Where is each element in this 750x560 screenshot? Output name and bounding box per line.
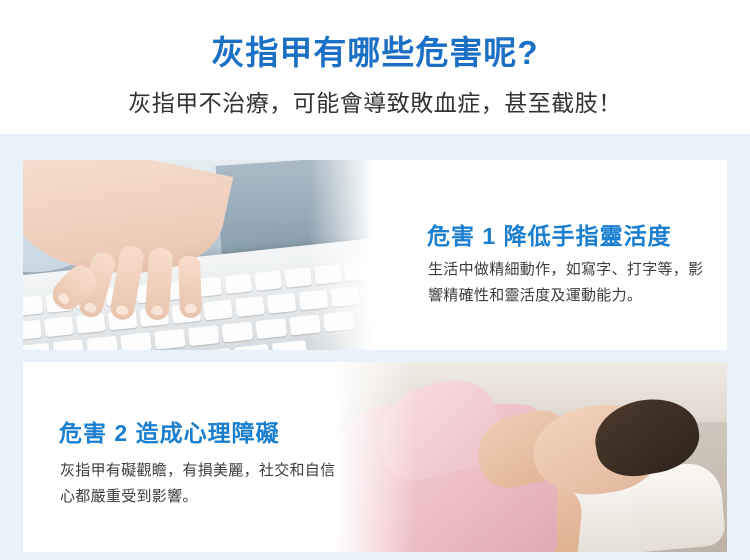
harm-card-1: 危害 1 降低手指靈活度 生活中做精細動作，如寫字、打字等，影響精確性和靈活度及… — [23, 160, 727, 350]
keyboard-key — [52, 339, 84, 350]
page-title: 灰指甲有哪些危害呢? — [0, 26, 750, 74]
keyboard-key — [203, 300, 233, 321]
person-lying-on-pillow-photo — [327, 362, 727, 552]
harm-card-1-title: 危害 1 降低手指靈活度 — [427, 217, 672, 251]
keyboard-key — [23, 320, 42, 341]
keyboard-key — [225, 273, 253, 294]
harm-card-2-title: 危害 2 造成心理障礙 — [59, 414, 280, 448]
keyboard-key — [120, 332, 152, 350]
keyboard-key — [272, 340, 308, 350]
promo-page: 灰指甲有哪些危害呢? 灰指甲不治療，可能會導致敗血症，甚至截肢！ — [0, 0, 750, 560]
keyboard-key — [188, 325, 220, 346]
keyboard-key — [23, 343, 50, 350]
keyboard-key — [234, 344, 270, 350]
keyboard-key — [235, 296, 265, 317]
keyboard-key — [44, 316, 74, 337]
keyboard-key — [86, 336, 118, 350]
keyboard-key — [255, 318, 287, 339]
harm-card-2-body: 灰指甲有礙觀瞻，有損美麗，社交和自信心都嚴重受到影響。 — [60, 458, 350, 510]
finger-shape — [178, 256, 202, 319]
header: 灰指甲有哪些危害呢? 灰指甲不治療，可能會導致敗血症，甚至截肢！ — [0, 0, 750, 134]
keyboard-key — [254, 270, 282, 291]
harm-card-1-text: 危害 1 降低手指靈活度 生活中做精細動作，如寫字、打字等，影響精確性和靈活度及… — [408, 160, 727, 350]
keyboard-key — [284, 267, 312, 288]
harm-card-2: 危害 2 造成心理障礙 灰指甲有礙觀瞻，有損美麗，社交和自信心都嚴重受到影響。 — [23, 362, 727, 552]
fingernail-shape — [116, 305, 129, 316]
band-bottom-edge — [0, 552, 750, 560]
fingernail-shape — [151, 306, 164, 316]
hand-typing-on-keyboard-photo — [23, 160, 379, 350]
harm-card-2-text: 危害 2 造成心理障礙 灰指甲有礙觀瞻，有損美麗，社交和自信心都嚴重受到影響。 — [23, 362, 353, 552]
page-subtitle: 灰指甲不治療，可能會導致敗血症，甚至截肢！ — [0, 84, 750, 118]
fingernail-shape — [56, 291, 71, 306]
keyboard-key — [154, 329, 186, 350]
fingernail-shape — [185, 304, 197, 313]
fingernail-shape — [84, 302, 98, 314]
keyboard-key — [267, 293, 297, 314]
keyboard-key — [222, 322, 254, 343]
photo-fade-right — [309, 160, 379, 350]
keyboard-spacebar — [141, 348, 232, 350]
finger-shape — [145, 247, 174, 320]
keyboard-key — [23, 295, 43, 316]
harm-card-1-body: 生活中做精細動作，如寫字、打字等，影響精確性和靈活度及運動能力。 — [428, 257, 713, 309]
